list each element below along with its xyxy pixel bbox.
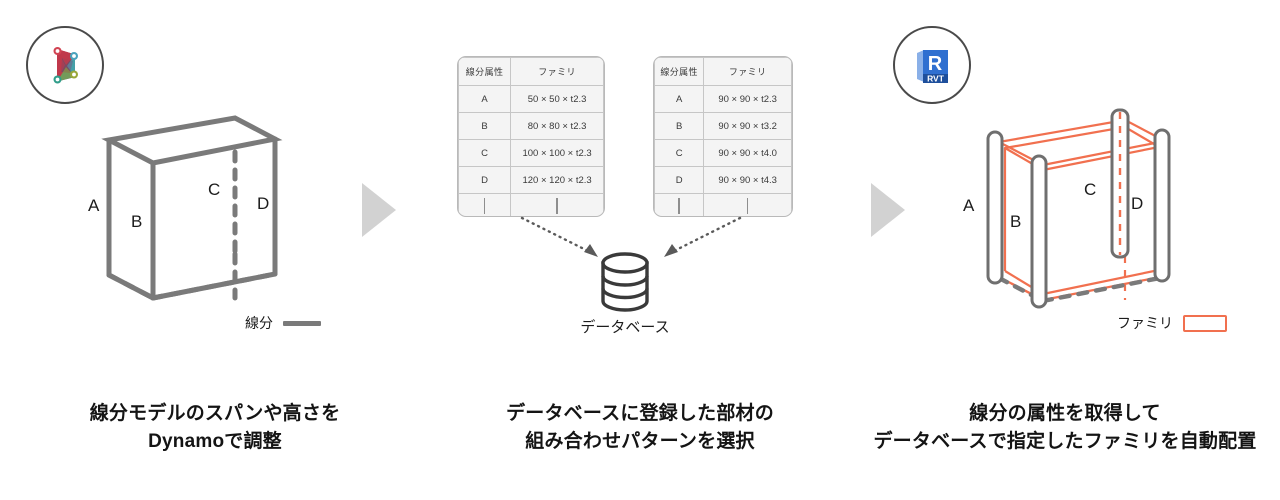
outlined-box-swatch — [1183, 315, 1227, 332]
caption-panel-1-line-1: 線分モデルのスパンや高さを — [0, 400, 430, 428]
node-label-d-right: D — [1131, 194, 1143, 214]
caption-panel-2-line-2: 組み合わせパターンを選択 — [425, 428, 855, 456]
table-1-r2-family: 80 × 80 × t2.3 — [511, 113, 604, 140]
table-1-header-family: ファミリ — [511, 58, 604, 86]
table-1-header-attr: 線分属性 — [459, 58, 511, 86]
table-row: B 80 × 80 × t2.3 — [459, 113, 604, 140]
revit-rvt-icon: R RVT — [893, 26, 971, 104]
table-row: D 90 × 90 × t4.3 — [655, 167, 792, 194]
family-column-b — [1032, 156, 1046, 307]
node-label-b-right: B — [1010, 212, 1021, 232]
node-label-d-left: D — [257, 194, 269, 214]
caption-panel-1: 線分モデルのスパンや高さを Dynamoで調整 — [0, 400, 430, 455]
caption-panel-2: データベースに登録した部材の 組み合わせパターンを選択 — [425, 400, 855, 455]
table-1-r2-attr: B — [459, 113, 511, 140]
step-arrow-1 — [362, 183, 396, 237]
caption-panel-2-line-1: データベースに登録した部材の — [425, 400, 855, 428]
table-2-r4-attr: D — [655, 167, 704, 194]
table-1-r3-attr: C — [459, 140, 511, 167]
table-1-r4-attr: D — [459, 167, 511, 194]
revit-family-model — [952, 108, 1212, 323]
family-column-c — [1112, 110, 1128, 257]
table-2-r1-family: 90 × 90 × t2.3 — [704, 86, 792, 113]
svg-text:RVT: RVT — [927, 74, 945, 84]
table-pattern-1[interactable]: 線分属性 ファミリ A 50 × 50 × t2.3 B 80 × 80 × t… — [457, 56, 605, 217]
table-1-r4-family: 120 × 120 × t2.3 — [511, 167, 604, 194]
table-row: C 100 × 100 × t2.3 — [459, 140, 604, 167]
table-2-r3-family: 90 × 90 × t4.0 — [704, 140, 792, 167]
legend-line: 線分 — [245, 313, 321, 333]
node-label-c-left: C — [208, 180, 220, 200]
family-column-d — [1155, 130, 1169, 281]
legend-line-label: 線分 — [245, 313, 273, 333]
database-label: データベース — [525, 316, 725, 337]
step-arrow-2 — [871, 183, 905, 237]
legend-family-label: ファミリ — [1117, 313, 1173, 333]
table-2-r2-attr: B — [655, 113, 704, 140]
table-1-r1-attr: A — [459, 86, 511, 113]
table-pattern-2[interactable]: 線分属性 ファミリ A 90 × 90 × t2.3 B 90 × 90 × t… — [653, 56, 793, 217]
table-2-r2-family: 90 × 90 × t3.2 — [704, 113, 792, 140]
diagram-canvas: A B C D 線分 線分モデルのスパンや高さを Dynamoで調整 線分属性 … — [0, 0, 1280, 500]
table-row: B 90 × 90 × t3.2 — [655, 113, 792, 140]
table-row: D 120 × 120 × t2.3 — [459, 167, 604, 194]
solid-line-swatch — [283, 321, 321, 326]
family-column-a — [988, 132, 1002, 283]
caption-panel-3-line-2: データベースで指定したファミリを自動配置 — [850, 428, 1280, 456]
database-cylinder-icon — [595, 251, 655, 313]
table-2-header-attr: 線分属性 — [655, 58, 704, 86]
line-model-wireframe — [70, 108, 320, 323]
node-label-c-right: C — [1084, 180, 1096, 200]
table-2-r4-family: 90 × 90 × t4.3 — [704, 167, 792, 194]
table-row: C 90 × 90 × t4.0 — [655, 140, 792, 167]
table-2-r3-attr: C — [655, 140, 704, 167]
table-row: A 50 × 50 × t2.3 — [459, 86, 604, 113]
svg-text:R: R — [928, 53, 943, 75]
legend-family: ファミリ — [1117, 313, 1227, 333]
node-label-a-right: A — [963, 196, 974, 216]
table-row: A 90 × 90 × t2.3 — [655, 86, 792, 113]
table-1-r1-family: 50 × 50 × t2.3 — [511, 86, 604, 113]
caption-panel-3: 線分の属性を取得して データベースで指定したファミリを自動配置 — [850, 400, 1280, 455]
table-2-r1-attr: A — [655, 86, 704, 113]
caption-panel-3-line-1: 線分の属性を取得して — [850, 400, 1280, 428]
table-2-header-family: ファミリ — [704, 58, 792, 86]
node-label-b-left: B — [131, 212, 142, 232]
dynamo-logo-icon — [26, 26, 104, 104]
table-1-r3-family: 100 × 100 × t2.3 — [511, 140, 604, 167]
caption-panel-1-line-2: Dynamoで調整 — [0, 428, 430, 456]
node-label-a-left: A — [88, 196, 99, 216]
